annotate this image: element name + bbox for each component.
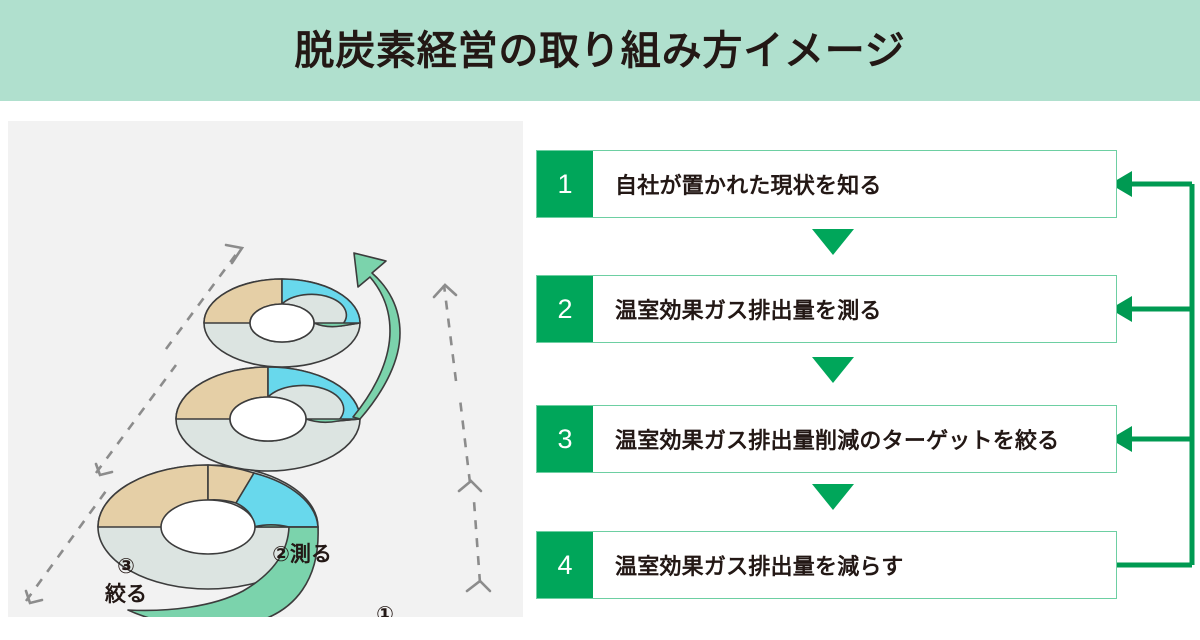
spiral-hole-turn3 — [161, 500, 255, 554]
flow-step-1-label: 自社が置かれた現状を知る — [593, 151, 1116, 217]
flow-step-2-number: 2 — [537, 276, 593, 342]
spiral-label-know-marker: ① — [376, 603, 394, 617]
flow-step-4-label: 温室効果ガス排出量を減らす — [593, 532, 1116, 598]
flow-panel: 1 自社が置かれた現状を知る 2 温室効果ガス排出量を測る 3 温室効果ガス排出… — [536, 121, 1200, 617]
page-title: 脱炭素経営の取り組み方イメージ — [294, 31, 905, 71]
spiral-label-narrow-marker: ③ — [117, 555, 135, 578]
spiral-rising-ribbon — [353, 253, 400, 419]
flow-step-1-number: 1 — [537, 151, 593, 217]
flow-step-4[interactable]: 4 温室効果ガス排出量を減らす — [536, 531, 1117, 599]
dashed-guide-arrows-right — [444, 285, 480, 583]
flow-step-4-number: 4 — [537, 532, 593, 598]
flow-step-2[interactable]: 2 温室効果ガス排出量を測る — [536, 275, 1117, 343]
spiral-label-measure: ②測る — [272, 543, 332, 566]
flow-step-3-label: 温室効果ガス排出量削減のターゲットを絞る — [593, 406, 1116, 472]
spiral-illustration-panel: ②測る ③ 絞る ④減らす ① 知る — [8, 121, 523, 617]
flow-connector-triangle-2-icon — [812, 357, 854, 383]
page-root: 脱炭素経営の取り組み方イメージ — [0, 0, 1200, 640]
spiral-hole-turn1 — [250, 304, 314, 342]
flow-connector-triangle-1-icon — [812, 229, 854, 255]
spiral-label-narrow: 絞る — [104, 582, 147, 606]
flow-step-3[interactable]: 3 温室効果ガス排出量削減のターゲットを絞る — [536, 405, 1117, 473]
flow-step-3-number: 3 — [537, 406, 593, 472]
flow-connector-triangle-3-icon — [812, 484, 854, 510]
spiral-diagram: ②測る ③ 絞る ④減らす ① 知る — [8, 121, 523, 617]
dashed-guide-arrowheads-right — [434, 285, 490, 591]
flow-step-2-label: 温室効果ガス排出量を測る — [593, 276, 1116, 342]
spiral-hole-turn2 — [230, 397, 306, 441]
flow-step-1[interactable]: 1 自社が置かれた現状を知る — [536, 150, 1117, 218]
header-band: 脱炭素経営の取り組み方イメージ — [0, 0, 1200, 101]
